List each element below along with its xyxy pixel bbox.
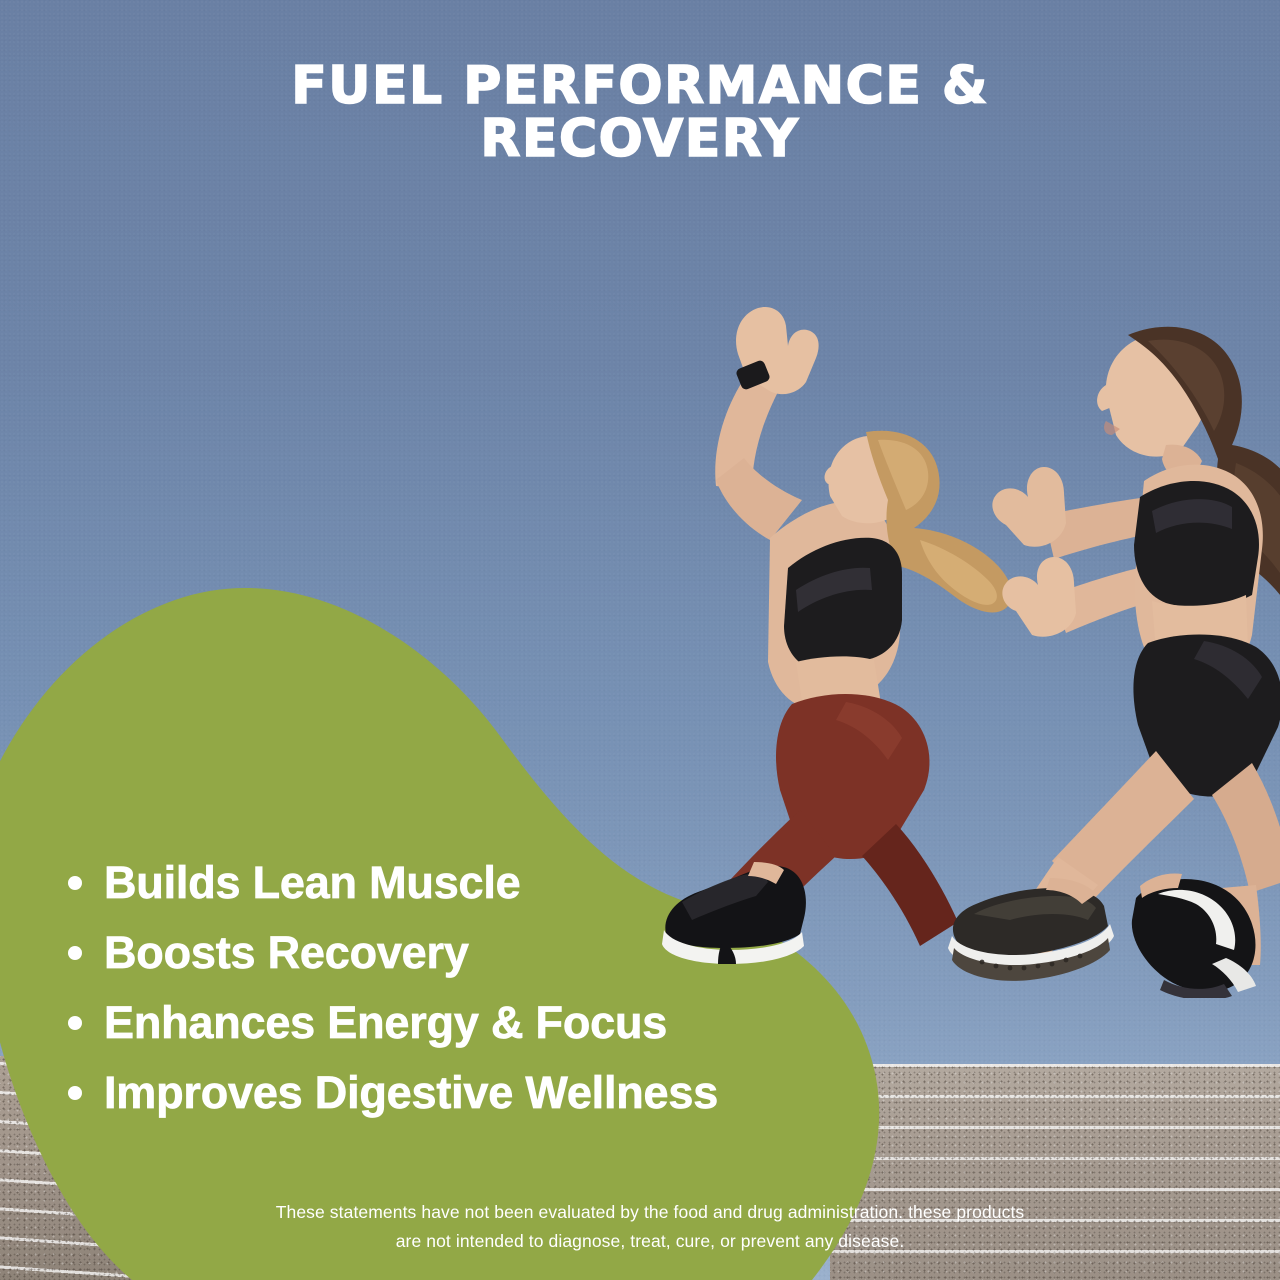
headline-line-2: RECOVERY	[0, 113, 1280, 166]
benefit-label: Improves Digestive Wellness	[104, 1058, 822, 1128]
benefits-list: Builds Lean Muscle Boosts Recovery Enhan…	[62, 848, 822, 1128]
benefit-label: Builds Lean Muscle	[104, 848, 822, 918]
disclaimer-line-2: are not intended to diagnose, treat, cur…	[150, 1227, 1150, 1256]
bullet-dot-icon	[68, 876, 82, 890]
benefit-item: Builds Lean Muscle	[62, 848, 822, 918]
legal-disclaimer: These statements have not been evaluated…	[150, 1198, 1150, 1256]
benefit-item: Enhances Energy & Focus	[62, 988, 822, 1058]
marketing-poster: FUEL PERFORMANCE & RECOVERY Builds Lean …	[0, 0, 1280, 1280]
page-title: FUEL PERFORMANCE & RECOVERY	[0, 60, 1280, 166]
bullet-dot-icon	[68, 1016, 82, 1030]
bullet-dot-icon	[68, 946, 82, 960]
shoe-right-runner-back	[1106, 868, 1280, 998]
benefit-item: Improves Digestive Wellness	[62, 1058, 822, 1128]
bullet-dot-icon	[68, 1086, 82, 1100]
benefit-item: Boosts Recovery	[62, 918, 822, 988]
benefit-label: Enhances Energy & Focus	[104, 988, 822, 1058]
headline-line-1: FUEL PERFORMANCE &	[291, 56, 989, 116]
benefit-label: Boosts Recovery	[104, 918, 822, 988]
disclaimer-line-1: These statements have not been evaluated…	[276, 1202, 1025, 1222]
